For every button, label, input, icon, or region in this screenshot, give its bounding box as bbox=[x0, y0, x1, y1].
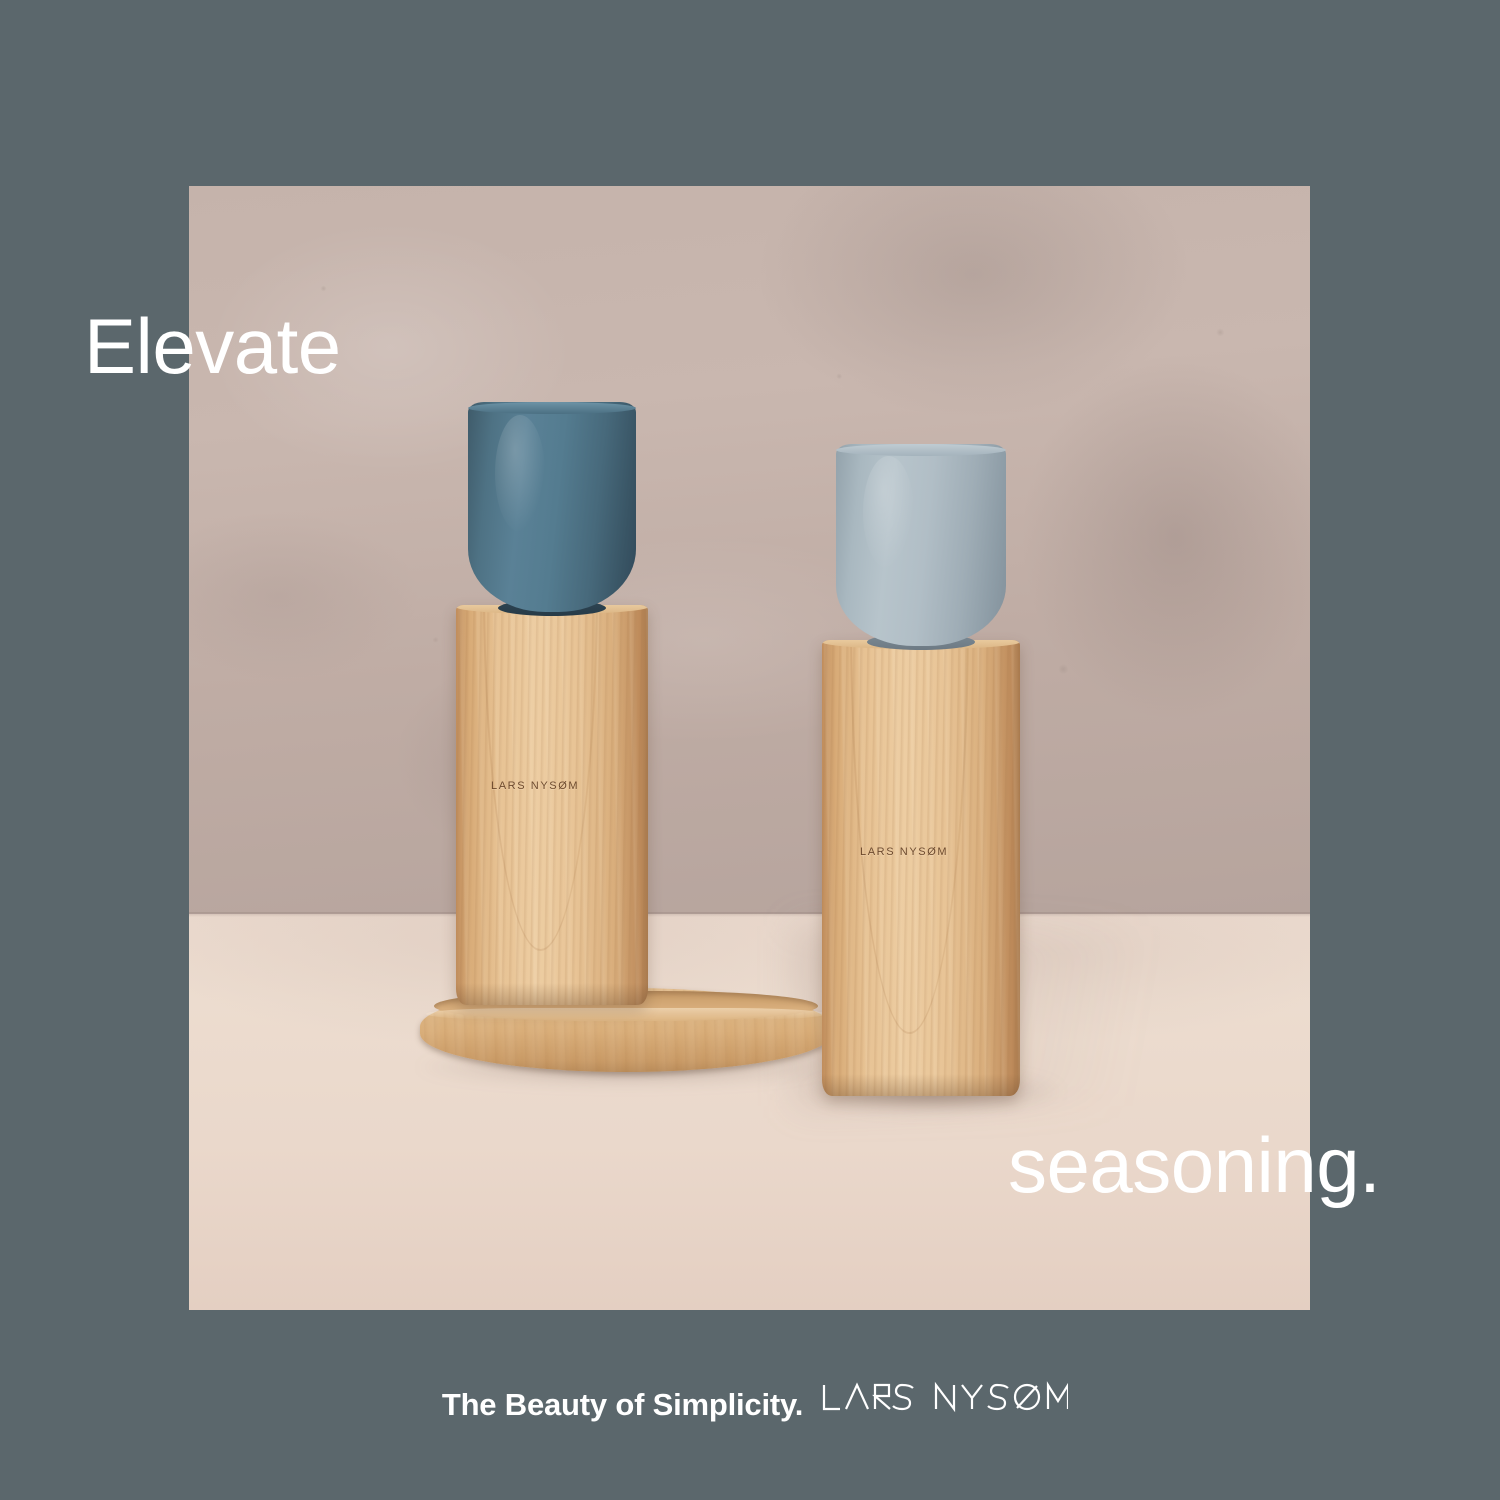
salt-mill: LARS NYSØM bbox=[822, 444, 1020, 1096]
salt-mill-ceramic-cap bbox=[836, 444, 1006, 646]
lars-nysom-logo-icon bbox=[820, 1381, 1068, 1415]
mill-base-shading bbox=[822, 1074, 1020, 1096]
footer-content: The Beauty of Simplicity. bbox=[442, 1381, 1068, 1423]
cap-rim bbox=[468, 402, 636, 414]
brand-wordmark bbox=[820, 1381, 1068, 1415]
wall-table-junction bbox=[189, 912, 1310, 917]
cap-rim bbox=[836, 444, 1006, 456]
cap-highlight bbox=[863, 456, 914, 569]
cap-body bbox=[836, 444, 1006, 646]
headline-line-2: seasoning. bbox=[1008, 1126, 1380, 1204]
pepper-mill-ceramic-cap bbox=[468, 402, 636, 612]
salt-mill-brand-engraving: LARS NYSØM bbox=[860, 846, 948, 858]
footer-tagline: The Beauty of Simplicity. bbox=[442, 1387, 803, 1423]
concrete-wall-backdrop bbox=[189, 186, 1310, 918]
pepper-mill-brand-engraving: LARS NYSØM bbox=[491, 780, 579, 792]
pepper-mill: LARS NYSØM bbox=[456, 402, 648, 1005]
salt-mill-wood-body: LARS NYSØM bbox=[822, 640, 1020, 1096]
headline-line-1: Elevate bbox=[84, 307, 341, 385]
pepper-mill-wood-body: LARS NYSØM bbox=[456, 605, 648, 1005]
cap-body bbox=[468, 402, 636, 612]
tray-rim-highlight bbox=[426, 1008, 826, 1020]
ad-canvas: LARS NYSØM LARS NYSØM Elevate seasoning.… bbox=[0, 0, 1500, 1500]
cap-highlight bbox=[495, 415, 545, 533]
footer-bar: The Beauty of Simplicity. bbox=[0, 1340, 1500, 1500]
mill-base-shading bbox=[456, 983, 648, 1005]
